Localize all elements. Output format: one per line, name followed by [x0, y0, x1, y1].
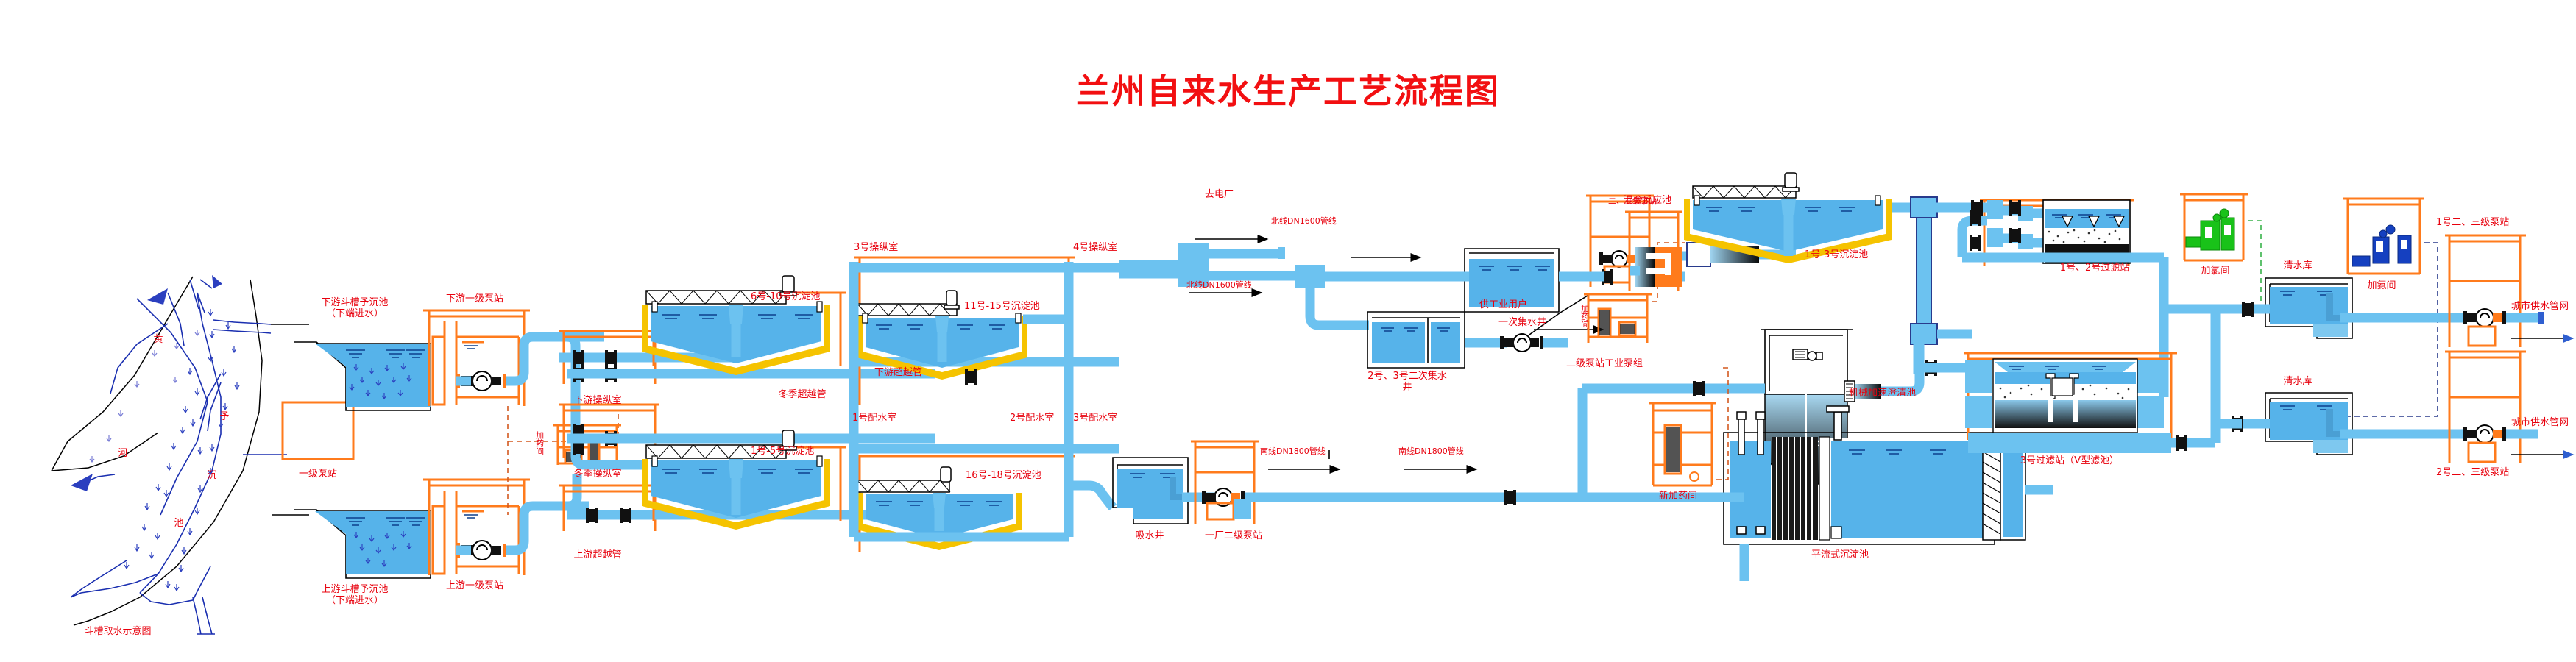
tank-1-3-label: 1号-3号沉淀池: [1805, 250, 1868, 261]
pump-station-1: [2445, 235, 2573, 347]
valve: [573, 350, 584, 366]
river-char-yu: 予: [219, 412, 229, 423]
downstream-first-stage-pump-station: [423, 310, 559, 406]
diagram-canvas: 兰州自来水生产工艺流程图: [0, 0, 2576, 662]
industrial-pump-group-label: 二级泵站工业泵组: [1566, 359, 1643, 370]
distrib-room-3-label: 3号配水室: [1073, 413, 1117, 424]
river-char-chen: 沉: [207, 471, 216, 482]
tank-11-15-label: 11号-15号沉淀池: [964, 302, 1040, 313]
industrial-pump-symbol: [1500, 334, 1543, 352]
valve: [1970, 235, 1981, 251]
sedimentation-tank-11-15: [854, 257, 1089, 405]
clearwater-reservoir-2: [2215, 393, 2464, 455]
intake-map-caption: 斗槽取水示意图: [84, 627, 151, 638]
control-room-4-label: 4号操纵室: [1073, 243, 1117, 254]
filter-station-3-label: 3号过滤站（V型滤池）: [2020, 456, 2119, 467]
river-map-graphic: [52, 275, 309, 634]
secondary-collector-well-label: 2号、3号二次集水 井: [1367, 371, 1447, 394]
north-line-label-b: 北线DN1600管线: [1186, 281, 1252, 291]
tank-16-18-label: 16号-18号沉淀池: [966, 471, 1025, 482]
distrib-room-1-label: 1号配水室: [852, 413, 896, 424]
ammoniator-equipment: [2352, 225, 2411, 266]
control-room-3-label: 3号操纵室: [854, 243, 898, 254]
mech-accel-clarifier-label: 机械加速澄清池: [1849, 388, 1916, 399]
downstream-control-room-label: 下游操纵室: [573, 396, 621, 407]
filter-station-1-2-label: 1号、2号过滤站: [2060, 263, 2130, 274]
scraper-bridge: [1693, 173, 1799, 198]
diagram-graphics: [0, 0, 2576, 662]
winter-control-room-label: 冬季操纵室: [573, 469, 621, 480]
valve: [965, 369, 977, 385]
clearwater-reservoir-1: [2242, 278, 2464, 338]
ammoniation-room-label: 加氨间: [2367, 281, 2396, 292]
tank-1-5-label: 1号-5号沉淀池: [751, 446, 814, 458]
plant1-second-stage-pump: [1191, 441, 1259, 524]
valve: [2242, 302, 2254, 317]
south-line-label-a: 南线DN1800管线: [1260, 447, 1326, 457]
pump-station-1-label: 1号二、三级泵站: [2436, 218, 2509, 229]
river-char-he: 河: [118, 449, 127, 460]
primary-collector-well-label: 一次集水井: [1498, 318, 1546, 329]
downstream-pre-sedimentation-pond: [294, 342, 431, 410]
valve: [620, 508, 631, 523]
scraper-bridge: [857, 467, 951, 492]
distrib-room-2-label: 2号配水室: [1010, 413, 1054, 424]
first-stage-pump-station-label: 一级泵站: [299, 469, 337, 480]
upstream-pond-label: 上游斗槽予沉池 （下端进水）: [321, 585, 388, 607]
scraper-bridge: [857, 291, 959, 316]
south-line-label-b: 南线DN1800管线: [1398, 447, 1464, 457]
valve: [2009, 200, 2021, 216]
suction-well-label: 吸水井: [1135, 531, 1164, 542]
downstream-pond-label: 下游斗槽予沉池 （下端进水）: [321, 298, 388, 320]
city-network-1-label: 城市供水管网: [2511, 302, 2569, 313]
valve: [1693, 381, 1705, 396]
dosing-room-mid-label: 加药间: [1579, 305, 1589, 329]
valve: [1504, 490, 1516, 505]
river-char-chi: 池: [174, 519, 183, 530]
motor: [1793, 349, 1822, 360]
valve: [586, 508, 598, 523]
upstream-pre-sedimentation-pond: [294, 510, 431, 578]
dosing-room-left-label: 加药间: [534, 431, 544, 455]
new-dosing-room-label: 新加药间: [1659, 491, 1697, 502]
downstream-pump-label: 下游一级泵站: [446, 294, 503, 305]
chlorinator-equipment: [2186, 209, 2234, 250]
tank-6-10-label: 6号-10号沉淀池: [751, 292, 821, 303]
transfer-north-line: [1119, 239, 1603, 368]
downstream-bypass-pipe-label: 下游超越管: [874, 368, 922, 379]
horizontal-flow-tank-label: 平流式沉淀池: [1811, 550, 1869, 561]
winter-bypass-pipe-label: 冬季超越管: [778, 390, 826, 401]
city-network-2-label: 城市供水管网: [2511, 418, 2569, 429]
pump-station-2: [2445, 352, 2573, 463]
upstream-pump-label: 上游一级泵站: [446, 581, 503, 592]
valve: [2176, 435, 2187, 451]
north-line-label-a: 北线DN1600管线: [1271, 217, 1337, 227]
secondary-collector-well: [1367, 312, 1507, 368]
chlorination-room-label: 加氯间: [2201, 266, 2229, 277]
clearwater-reservoir-2-label: 清水库: [2283, 377, 2312, 388]
clearwater-reservoir-1-label: 清水库: [2283, 261, 2312, 272]
upstream-first-stage-pump-station: [423, 480, 559, 575]
mixing-reaction-tank-label: 混合反应池: [1624, 196, 1671, 207]
industrial-users-label: 供工业用户: [1479, 300, 1527, 311]
upstream-bypass-pipe-label: 上游超越管: [573, 550, 621, 561]
valve: [605, 350, 617, 366]
valve: [2009, 228, 2021, 243]
river-char-huang: 黄: [153, 335, 163, 346]
first-stage-pump-station-box: [283, 402, 353, 459]
valve: [1970, 210, 1981, 226]
pump-station-2-label: 2号二、三级泵站: [2436, 468, 2509, 479]
to-power-plant-label: 去电厂: [1205, 190, 1234, 201]
plant1-pump-label: 一厂二级泵站: [1205, 531, 1262, 542]
